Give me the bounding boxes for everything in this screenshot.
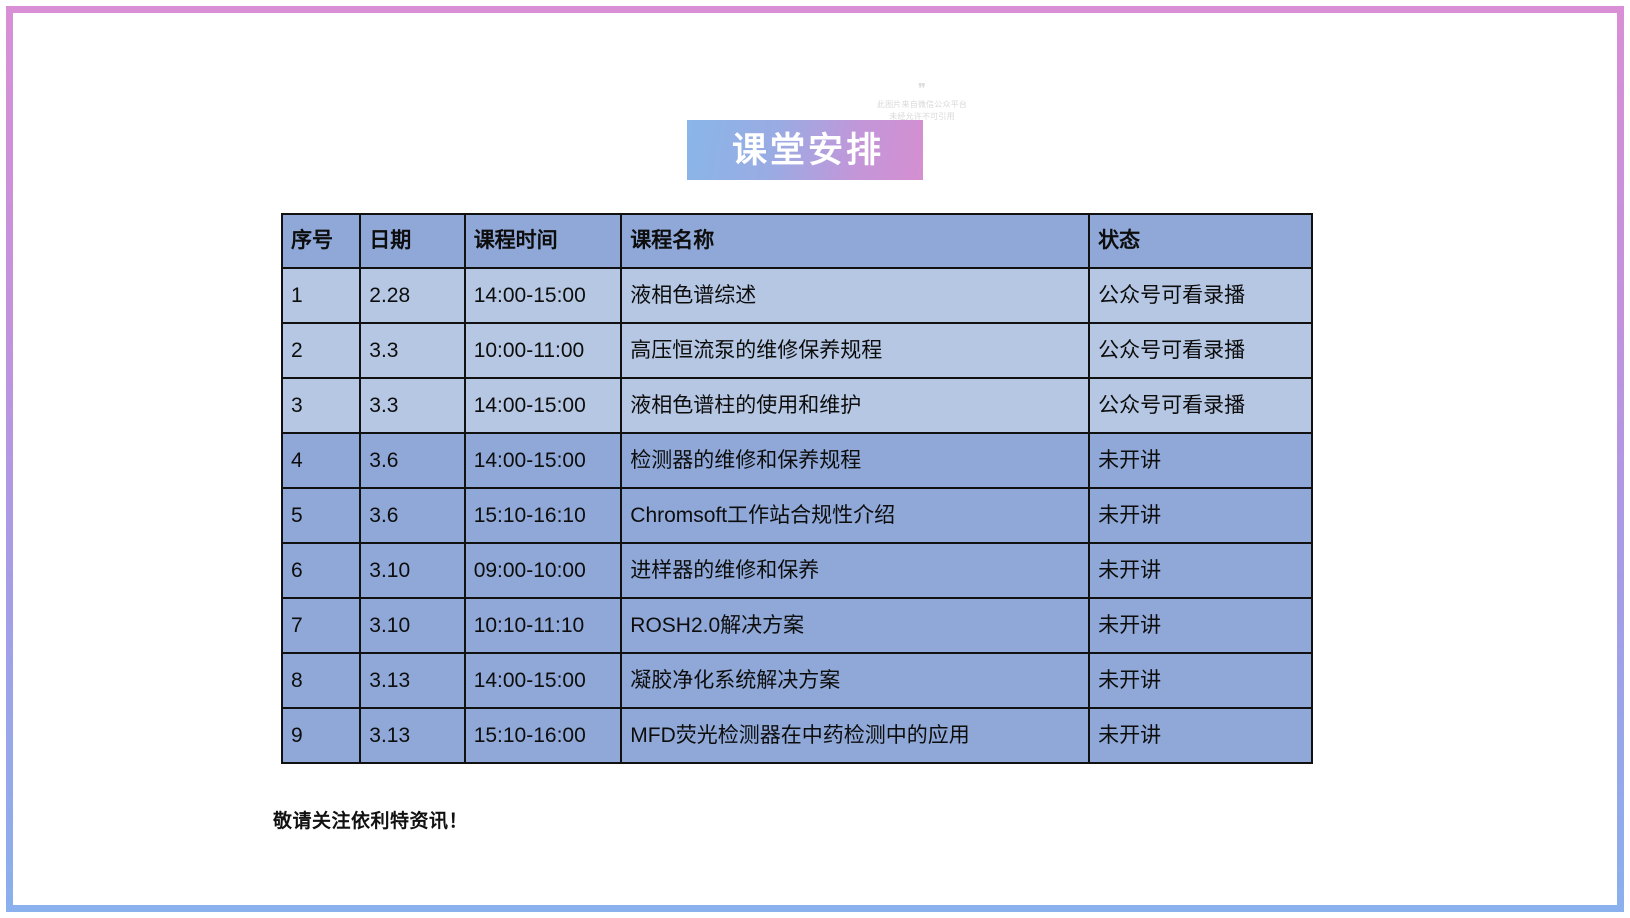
cell-date: 3.10 xyxy=(360,598,464,653)
cell-index: 2 xyxy=(282,323,360,378)
cell-index: 1 xyxy=(282,268,360,323)
course-schedule-table: 序号 日期 课程时间 课程名称 状态 12.2814:00-15:00液相色谱综… xyxy=(281,213,1313,764)
column-header-index: 序号 xyxy=(282,214,360,268)
cell-status: 未开讲 xyxy=(1089,543,1312,598)
cell-status: 未开讲 xyxy=(1089,708,1312,763)
cell-index: 5 xyxy=(282,488,360,543)
table-row: 43.614:00-15:00检测器的维修和保养规程未开讲 xyxy=(282,433,1312,488)
cell-date: 3.6 xyxy=(360,488,464,543)
cell-name: 凝胶净化系统解决方案 xyxy=(621,653,1089,708)
cell-index: 4 xyxy=(282,433,360,488)
cell-name: 检测器的维修和保养规程 xyxy=(621,433,1089,488)
cell-time: 15:10-16:00 xyxy=(465,708,622,763)
table-row: 33.314:00-15:00液相色谱柱的使用和维护公众号可看录播 xyxy=(282,378,1312,433)
cell-date: 3.6 xyxy=(360,433,464,488)
cell-index: 3 xyxy=(282,378,360,433)
column-header-date: 日期 xyxy=(360,214,464,268)
cell-index: 6 xyxy=(282,543,360,598)
cell-date: 2.28 xyxy=(360,268,464,323)
cell-name: 液相色谱柱的使用和维护 xyxy=(621,378,1089,433)
cell-name: Chromsoft工作站合规性介绍 xyxy=(621,488,1089,543)
cell-time: 14:00-15:00 xyxy=(465,653,622,708)
cell-status: 未开讲 xyxy=(1089,433,1312,488)
cell-time: 14:00-15:00 xyxy=(465,268,622,323)
table-row: 63.1009:00-10:00进样器的维修和保养未开讲 xyxy=(282,543,1312,598)
cell-status: 公众号可看录播 xyxy=(1089,323,1312,378)
table-row: 12.2814:00-15:00液相色谱综述公众号可看录播 xyxy=(282,268,1312,323)
cell-index: 7 xyxy=(282,598,360,653)
footer-note: 敬请关注依利特资讯！ xyxy=(273,806,468,833)
table-header-row: 序号 日期 课程时间 课程名称 状态 xyxy=(282,214,1312,268)
cell-time: 14:00-15:00 xyxy=(465,378,622,433)
cell-status: 公众号可看录播 xyxy=(1089,268,1312,323)
table-row: 53.615:10-16:10Chromsoft工作站合规性介绍未开讲 xyxy=(282,488,1312,543)
column-header-status: 状态 xyxy=(1089,214,1312,268)
table-row: 73.1010:10-11:10ROSH2.0解决方案未开讲 xyxy=(282,598,1312,653)
cell-date: 3.3 xyxy=(360,323,464,378)
table-row: 93.1315:10-16:00MFD荧光检测器在中药检测中的应用未开讲 xyxy=(282,708,1312,763)
cell-status: 未开讲 xyxy=(1089,653,1312,708)
cell-name: 液相色谱综述 xyxy=(621,268,1089,323)
cell-time: 14:00-15:00 xyxy=(465,433,622,488)
cell-status: 未开讲 xyxy=(1089,488,1312,543)
table-body: 12.2814:00-15:00液相色谱综述公众号可看录播23.310:00-1… xyxy=(282,268,1312,763)
table-row: 83.1314:00-15:00凝胶净化系统解决方案未开讲 xyxy=(282,653,1312,708)
cell-date: 3.13 xyxy=(360,708,464,763)
cell-time: 10:10-11:10 xyxy=(465,598,622,653)
cell-time: 15:10-16:10 xyxy=(465,488,622,543)
watermark-line-1: 此图片来自微信公众平台 xyxy=(877,100,967,109)
cell-index: 8 xyxy=(282,653,360,708)
cell-name: MFD荧光检测器在中药检测中的应用 xyxy=(621,708,1089,763)
cell-time: 09:00-10:00 xyxy=(465,543,622,598)
cell-date: 3.10 xyxy=(360,543,464,598)
column-header-name: 课程名称 xyxy=(621,214,1089,268)
cell-name: ROSH2.0解决方案 xyxy=(621,598,1089,653)
cell-time: 10:00-11:00 xyxy=(465,323,622,378)
cell-status: 未开讲 xyxy=(1089,598,1312,653)
cell-date: 3.3 xyxy=(360,378,464,433)
poster-gradient-frame: ❞ 此图片来自微信公众平台 未经允许不可引用 课堂安排 序号 日期 课程时间 课… xyxy=(6,6,1624,912)
table-row: 23.310:00-11:00高压恒流泵的维修保养规程公众号可看录播 xyxy=(282,323,1312,378)
cell-name: 高压恒流泵的维修保养规程 xyxy=(621,323,1089,378)
watermark: ❞ 此图片来自微信公众平台 未经允许不可引用 xyxy=(864,81,980,123)
poster-canvas: ❞ 此图片来自微信公众平台 未经允许不可引用 课堂安排 序号 日期 课程时间 课… xyxy=(13,13,1617,905)
page-title: 课堂安排 xyxy=(708,131,908,171)
cell-index: 9 xyxy=(282,708,360,763)
wechat-bubbles-icon: ❞ xyxy=(864,81,980,98)
column-header-time: 课程时间 xyxy=(465,214,622,268)
cell-date: 3.13 xyxy=(360,653,464,708)
cell-status: 公众号可看录播 xyxy=(1089,378,1312,433)
cell-name: 进样器的维修和保养 xyxy=(621,543,1089,598)
